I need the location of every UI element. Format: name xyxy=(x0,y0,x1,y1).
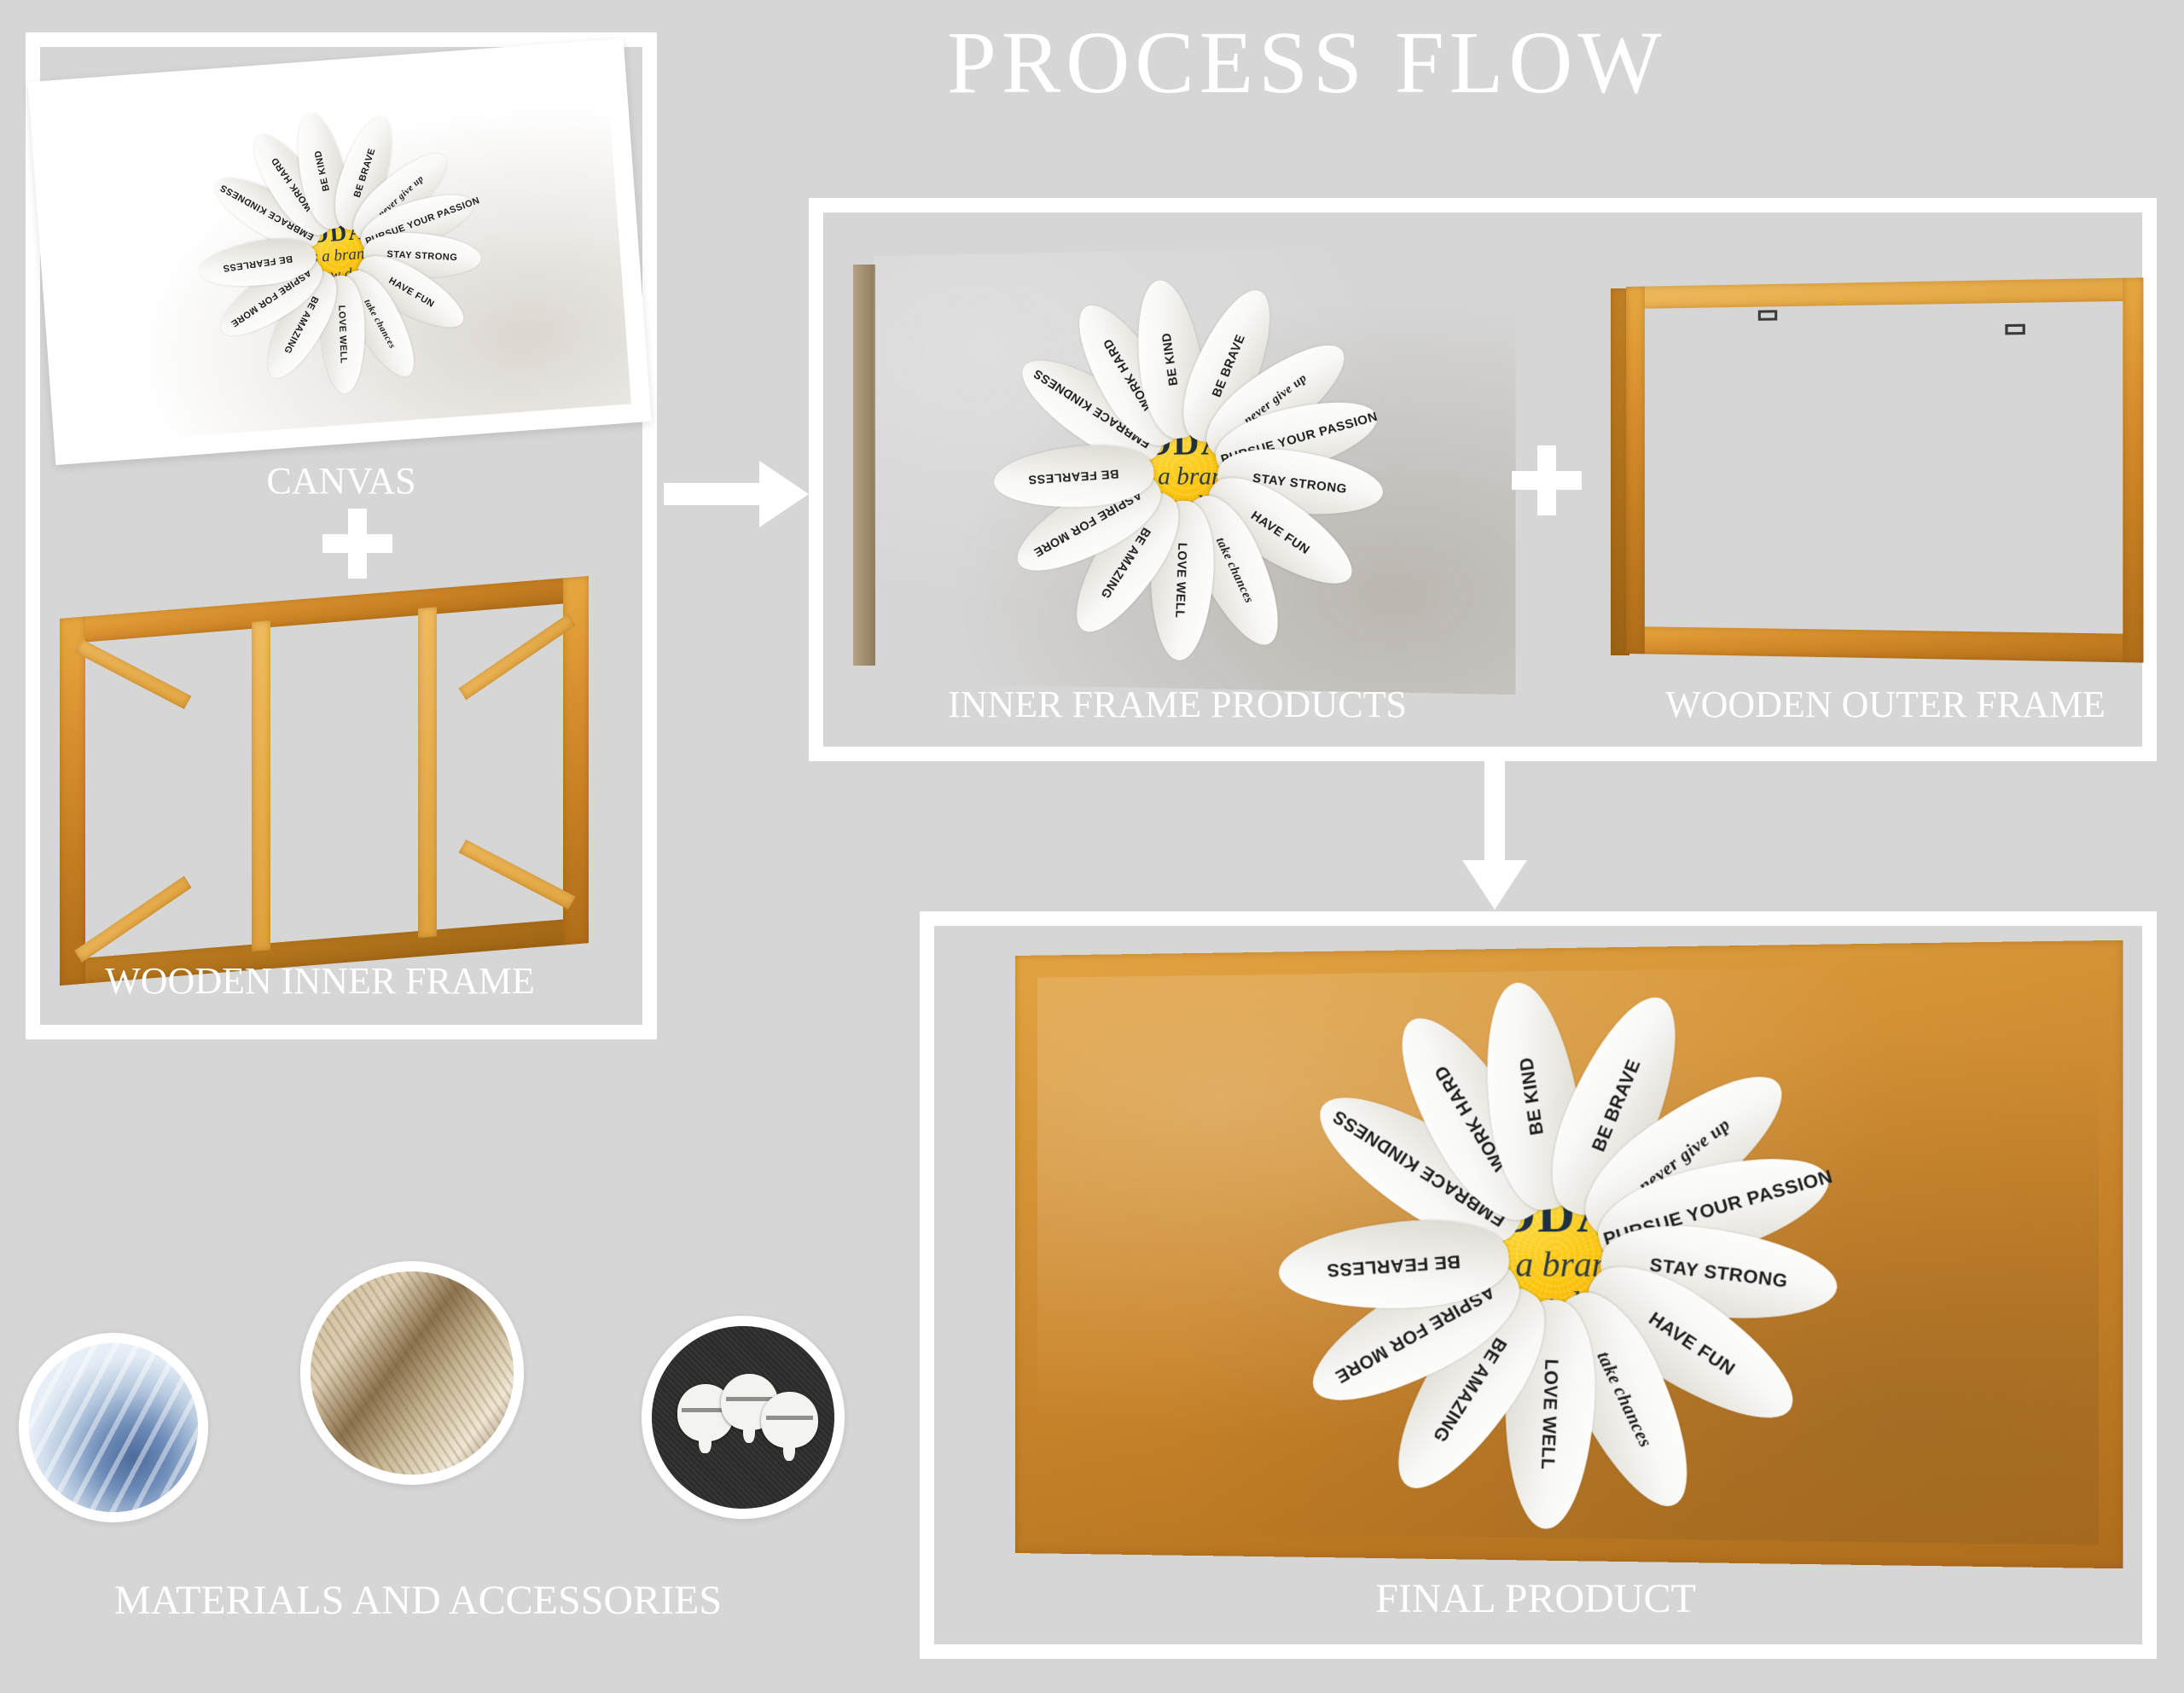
caption-wooden-outer-frame: WOODEN OUTER FRAME xyxy=(1612,683,2158,726)
wooden-inner-frame-product xyxy=(60,576,589,986)
petal-label: take chances xyxy=(362,298,398,351)
canvas-artwork: EMBRACE KINDNESSWORK HARDBE KINDBE BRAVE… xyxy=(48,59,631,445)
petal-label: LOVE WELL xyxy=(1173,543,1190,619)
inner-frame-brace-tl xyxy=(74,639,191,709)
petal-label: BE KIND xyxy=(1159,332,1181,387)
petal-ring: EMBRACE KINDNESSWORK HARDBE KINDBE BRAVE… xyxy=(1281,980,1835,986)
plastic-wrap-image xyxy=(29,1343,198,1512)
caption-final-product: FINAL PRODUCT xyxy=(1211,1575,1860,1622)
material-circle-plastic-wrap xyxy=(19,1333,208,1522)
petal-label: LOVE WELL xyxy=(336,305,349,364)
plus-inner-outer-icon xyxy=(1512,445,1582,515)
inner-frame-rail-right xyxy=(563,576,589,945)
inner-frame-stretcher-1 xyxy=(252,620,270,951)
plus-canvas-frame-icon xyxy=(322,509,392,579)
inner-frame-stretcher-2 xyxy=(418,607,437,938)
canvas-depth-left xyxy=(853,265,875,666)
petal-ring: EMBRACE KINDNESSWORK HARDBE KINDBE BRAVE… xyxy=(189,101,469,121)
material-circle-wall-hooks xyxy=(642,1316,845,1519)
daisy-flower: EMBRACE KINDNESSWORK HARDBE KINDBE BRAVE… xyxy=(1281,980,1835,1529)
hanging-bracket-right xyxy=(2005,324,2024,335)
final-product-artwork: EMBRACE KINDNESSWORK HARDBE KINDBE BRAVE… xyxy=(1037,963,2099,1545)
hanging-bracket-left xyxy=(1758,310,1777,320)
inner-frame-brace-bl xyxy=(74,876,191,962)
inner-frame-rail-left xyxy=(60,617,85,986)
page-title: PROCESS FLOW xyxy=(947,12,1667,113)
caption-materials-and-accessories: MATERIALS AND ACCESSORIES xyxy=(34,1577,802,1624)
petal-label: LOVE WELL xyxy=(1536,1358,1562,1470)
caption-inner-frame-products: INNER FRAME PRODUCTS xyxy=(870,683,1484,726)
petal-label: BE FEARLESS xyxy=(222,253,293,274)
caption-canvas: CANVAS xyxy=(154,459,529,503)
wooden-outer-frame-product xyxy=(1611,283,2123,659)
wall-hook-3 xyxy=(761,1392,817,1448)
outer-frame-rail-bottom xyxy=(1626,626,2143,663)
arrow-right-icon xyxy=(664,461,817,527)
material-circle-corner-protector xyxy=(300,1261,524,1485)
wall-hooks-image xyxy=(652,1326,834,1509)
outer-frame-body xyxy=(1626,274,2143,668)
inner-frame-brace-tr xyxy=(458,614,575,700)
petal-label: BE KIND xyxy=(312,149,331,192)
outer-frame-rail-right xyxy=(2123,277,2143,662)
outer-frame-rail-left xyxy=(1626,287,1645,655)
inner-frame-product: EMBRACE KINDNESSWORK HARDBE KINDBE BRAVE… xyxy=(853,256,1484,683)
arrow-down-icon xyxy=(1462,761,1527,913)
petal-label: take chances xyxy=(1592,1348,1657,1452)
petal-label: BE KIND xyxy=(1516,1056,1548,1137)
caption-wooden-inner-frame: WOODEN INNER FRAME xyxy=(43,959,597,1003)
inner-frame-artwork: EMBRACE KINDNESSWORK HARDBE KINDBE BRAVE… xyxy=(874,244,1515,695)
daisy-flower: EMBRACE KINDNESSWORK HARDBE KINDBE BRAVE… xyxy=(189,101,490,402)
canvas-product: EMBRACE KINDNESSWORK HARDBE KINDBE BRAVE… xyxy=(27,38,651,465)
petal-ring: EMBRACE KINDNESSWORK HARDBE KINDBE BRAVE… xyxy=(996,277,1382,283)
process-flow-diagram: PROCESS FLOW EMBRACE KINDNESSWORK HARDBE… xyxy=(0,0,2184,1693)
outer-frame-rail-top xyxy=(1626,277,2143,309)
daisy-flower: EMBRACE KINDNESSWORK HARDBE KINDBE BRAVE… xyxy=(996,277,1382,660)
inner-frame-brace-br xyxy=(458,840,575,910)
petal-label: BE FEARLESS xyxy=(1028,467,1119,487)
corner-protector-image xyxy=(311,1271,514,1475)
petal-label: take chances xyxy=(1212,536,1256,606)
petal-label: BE FEARLESS xyxy=(1326,1250,1461,1280)
final-product: EMBRACE KINDNESSWORK HARDBE KINDBE BRAVE… xyxy=(1015,940,2123,1568)
